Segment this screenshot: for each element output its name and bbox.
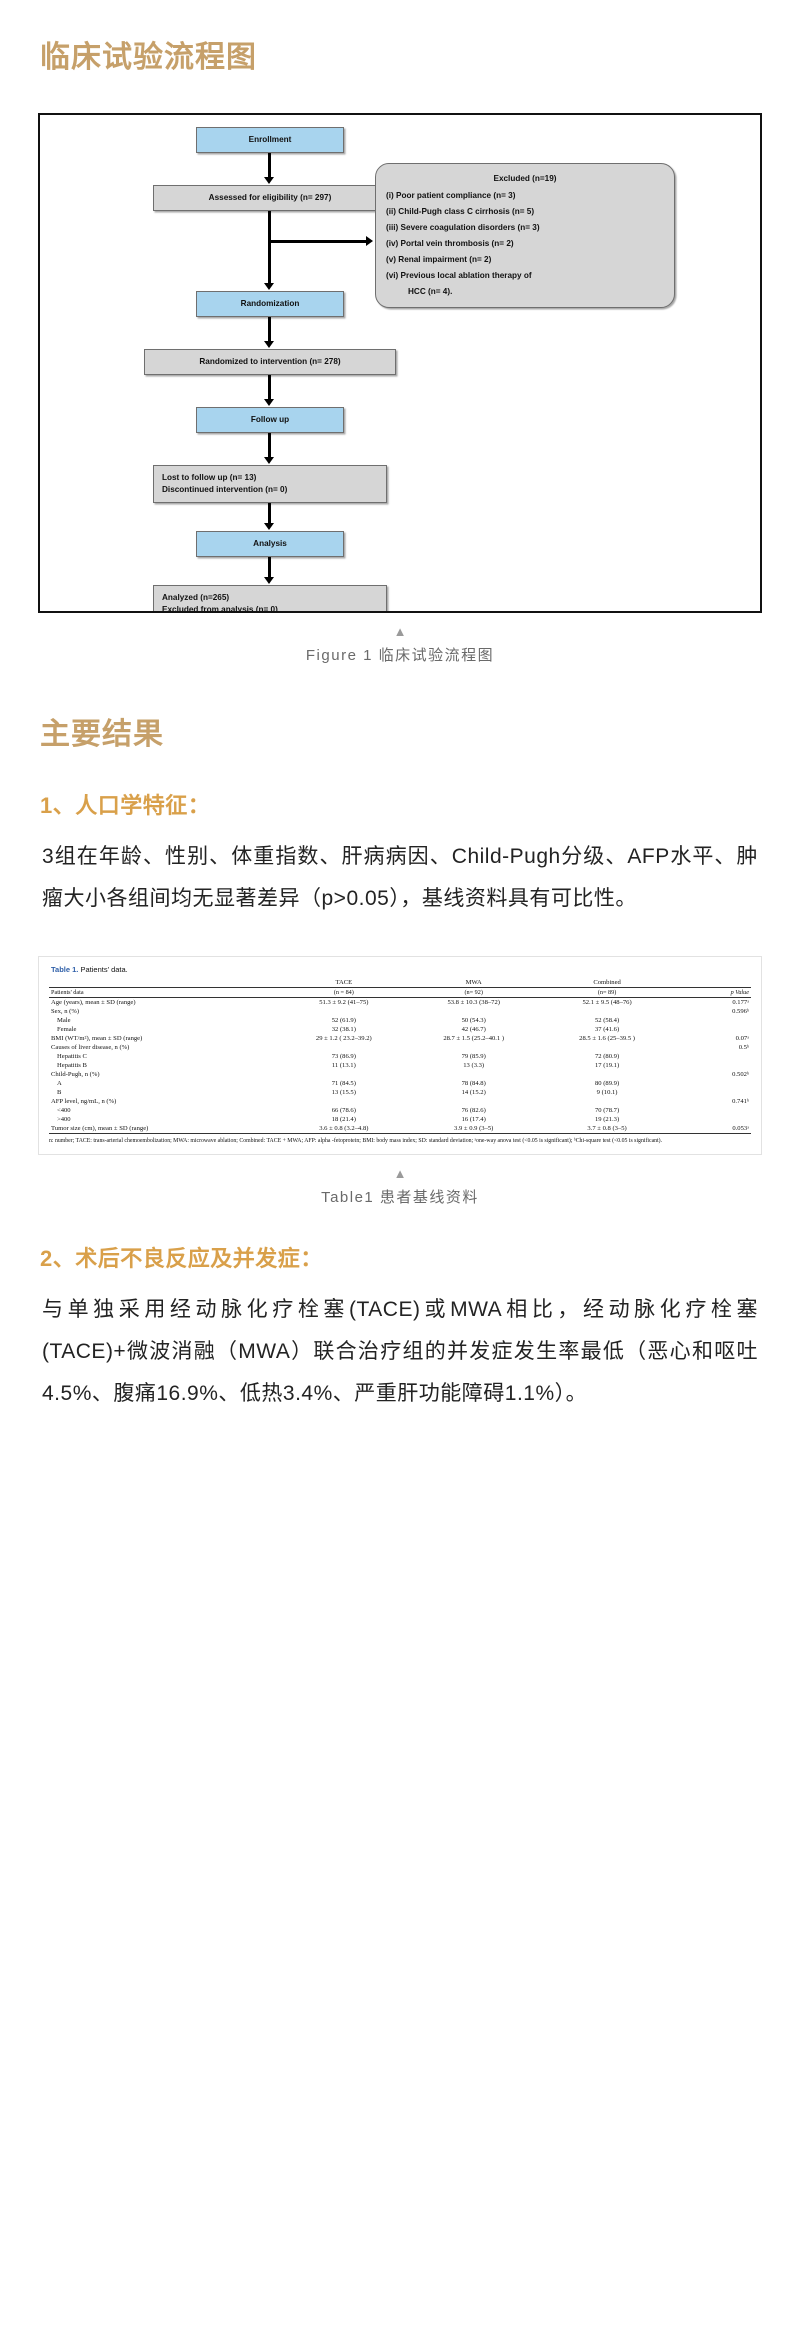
node-follow-up: Follow up xyxy=(196,407,344,433)
cell-mwa xyxy=(407,1097,540,1106)
cell-p-value: 0.177ᵃ xyxy=(674,998,751,1008)
node-lost-discontinued: Lost to follow up (n= 13) Discontinued i… xyxy=(153,465,387,503)
connector-randomization-randomized xyxy=(268,317,271,343)
node-lost-label: Lost to follow up (n= 13) xyxy=(162,472,256,484)
cell-mwa xyxy=(407,1070,540,1079)
connector-randomized-followup xyxy=(268,375,271,401)
cell-mwa: 42 (46.7) xyxy=(407,1025,540,1034)
col-header-patients-data: Patients' data xyxy=(49,988,281,998)
table-footnote: n: number; TACE: trans-arterial chemoemb… xyxy=(49,1137,751,1146)
cell-combined: 19 (21.3) xyxy=(540,1115,673,1124)
node-excluded: Excluded (n=19) (i) Poor patient complia… xyxy=(375,163,675,308)
excluded-item: HCC (n= 4). xyxy=(386,284,664,300)
cell-label: B xyxy=(49,1088,281,1097)
figure-flowchart: Enrollment Assessed for eligibility (n= … xyxy=(38,113,762,665)
cell-p-value xyxy=(674,1052,751,1061)
cell-label: Female xyxy=(49,1025,281,1034)
figure-caption-marker: ▲ xyxy=(38,625,762,638)
table-row: <40066 (78.6)76 (82.6)70 (78.7) xyxy=(49,1106,751,1115)
article-page: 临床试验流程图 Enrollment Assessed for eligibil… xyxy=(0,38,800,2335)
table-row: A71 (84.5)78 (84.8)80 (89.9) xyxy=(49,1079,751,1088)
arrow-down-2 xyxy=(264,283,274,290)
col-header-tace-n: (n = 84) xyxy=(281,988,407,998)
node-followup-label: Follow up xyxy=(251,414,289,426)
arrow-down-7 xyxy=(264,577,274,584)
node-analyzed: Analyzed (n=265) Excluded from analysis … xyxy=(153,585,387,613)
cell-mwa: 28.7 ± 1.5 (25.2–40.1 ) xyxy=(407,1034,540,1043)
cell-tace: 73 (86.9) xyxy=(281,1052,407,1061)
group-header-tace: TACE xyxy=(281,978,407,988)
node-assessed-label: Assessed for eligibility (n= 297) xyxy=(209,192,332,204)
cell-p-value: 0.741ᵇ xyxy=(674,1097,751,1106)
table-caption-marker: ▲ xyxy=(0,1167,800,1180)
table-row: Hepatitis B11 (13.1)13 (3.3)17 (19.1) xyxy=(49,1061,751,1070)
arrow-down-1 xyxy=(264,177,274,184)
connector-enrollment-assessed xyxy=(268,153,271,179)
cell-combined: 52 (58.4) xyxy=(540,1016,673,1025)
cell-combined: 72 (80.9) xyxy=(540,1052,673,1061)
cell-p-value xyxy=(674,1106,751,1115)
cell-tace: 3.6 ± 0.8 (3.2–4.8) xyxy=(281,1124,407,1134)
cell-combined: 28.5 ± 1.6 (25–39.5 ) xyxy=(540,1034,673,1043)
paragraph-demographics: 3组在年龄、性别、体重指数、肝病病因、Child-Pugh分级、AFP水平、肿瘤… xyxy=(42,836,758,920)
cell-combined: 17 (19.1) xyxy=(540,1061,673,1070)
cell-combined: 80 (89.9) xyxy=(540,1079,673,1088)
table-row: Age (years), mean ± SD (range)51.3 ± 9.2… xyxy=(49,998,751,1008)
node-randomized-label: Randomized to intervention (n= 278) xyxy=(199,356,340,368)
table-row: Hepatitis C73 (86.9)79 (85.9)72 (80.9) xyxy=(49,1052,751,1061)
group-header-pvalue-blank xyxy=(674,978,751,988)
node-enrollment-label: Enrollment xyxy=(249,134,292,146)
cell-combined: 3.7 ± 0.8 (3–5) xyxy=(540,1124,673,1134)
group-header-combined: Combined xyxy=(540,978,673,988)
node-excluded-analysis-label: Excluded from analysis (n= 0) xyxy=(162,604,278,613)
cell-mwa: 14 (15.2) xyxy=(407,1088,540,1097)
cell-p-value: 0.5ᵇ xyxy=(674,1043,751,1052)
node-analyzed-label: Analyzed (n=265) xyxy=(162,592,229,604)
cell-combined: 70 (78.7) xyxy=(540,1106,673,1115)
cell-mwa xyxy=(407,1043,540,1052)
arrow-down-5 xyxy=(264,457,274,464)
cell-combined xyxy=(540,1043,673,1052)
cell-label: Hepatitis C xyxy=(49,1052,281,1061)
table-sub-header-row: Patients' data (n = 84) (n= 92) (n= 89) … xyxy=(49,988,751,998)
connector-followup-lost xyxy=(268,433,271,459)
excluded-title: Excluded (n=19) xyxy=(386,171,664,187)
cell-p-value xyxy=(674,1025,751,1034)
excluded-item: (iii) Severe coagulation disorders (n= 3… xyxy=(386,220,664,236)
table-group-header-row: TACE MWA Combined xyxy=(49,978,751,988)
cell-tace: 13 (15.5) xyxy=(281,1088,407,1097)
cell-mwa: 79 (85.9) xyxy=(407,1052,540,1061)
excluded-item: (ii) Child-Pugh class C cirrhosis (n= 5) xyxy=(386,204,664,220)
cell-mwa: 50 (54.3) xyxy=(407,1016,540,1025)
excluded-item: (i) Poor patient compliance (n= 3) xyxy=(386,188,664,204)
section-title-results: 主要结果 xyxy=(40,715,800,754)
cell-combined: 9 (10.1) xyxy=(540,1088,673,1097)
patients-data-table: TACE MWA Combined Patients' data (n = 84… xyxy=(49,978,751,1134)
cell-label: Age (years), mean ± SD (range) xyxy=(49,998,281,1008)
cell-tace: 18 (21.4) xyxy=(281,1115,407,1124)
node-discontinued-label: Discontinued intervention (n= 0) xyxy=(162,484,287,496)
node-enrollment: Enrollment xyxy=(196,127,344,153)
cell-p-value xyxy=(674,1061,751,1070)
cell-tace: 71 (84.5) xyxy=(281,1079,407,1088)
connector-assessed-randomization xyxy=(268,211,271,285)
cell-combined xyxy=(540,1007,673,1016)
cell-label: Male xyxy=(49,1016,281,1025)
subsection-title-adverse: 2、术后不良反应及并发症： xyxy=(40,1241,800,1273)
cell-tace xyxy=(281,1070,407,1079)
cell-p-value xyxy=(674,1115,751,1124)
node-randomized-to-intervention: Randomized to intervention (n= 278) xyxy=(144,349,396,375)
node-randomization: Randomization xyxy=(196,291,344,317)
table-body: Age (years), mean ± SD (range)51.3 ± 9.2… xyxy=(49,998,751,1134)
cell-tace xyxy=(281,1043,407,1052)
cell-label: >400 xyxy=(49,1115,281,1124)
cell-label: Tumor size (cm), mean ± SD (range) xyxy=(49,1124,281,1134)
node-analysis: Analysis xyxy=(196,531,344,557)
cell-label: Child-Pugh, n (%) xyxy=(49,1070,281,1079)
table-row: Sex, n (%)0.596ᵇ xyxy=(49,1007,751,1016)
col-header-mwa-n: (n= 92) xyxy=(407,988,540,998)
connector-lost-analysis xyxy=(268,503,271,525)
cell-label: Causes of liver disease, n (%) xyxy=(49,1043,281,1052)
col-header-combined-n: (n= 89) xyxy=(540,988,673,998)
cell-p-value: 0.053ᵃ xyxy=(674,1124,751,1134)
arrow-right-excluded xyxy=(366,236,373,246)
cell-tace: 52 (61.9) xyxy=(281,1016,407,1025)
table-row: B13 (15.5)14 (15.2)9 (10.1) xyxy=(49,1088,751,1097)
arrow-down-4 xyxy=(264,399,274,406)
flowchart-canvas: Enrollment Assessed for eligibility (n= … xyxy=(38,113,762,613)
table-row: Causes of liver disease, n (%)0.5ᵇ xyxy=(49,1043,751,1052)
table-title: Table 1. Patients' data. xyxy=(51,965,751,974)
cell-tace: 66 (78.6) xyxy=(281,1106,407,1115)
cell-p-value: 0.596ᵇ xyxy=(674,1007,751,1016)
cell-p-value xyxy=(674,1079,751,1088)
cell-tace: 51.3 ± 9.2 (41–75) xyxy=(281,998,407,1008)
subsection-title-demographics: 1、人口学特征： xyxy=(40,788,800,820)
cell-mwa: 78 (84.8) xyxy=(407,1079,540,1088)
cell-tace: 29 ± 1.2 ( 23.2–39.2) xyxy=(281,1034,407,1043)
table-row: Tumor size (cm), mean ± SD (range)3.6 ± … xyxy=(49,1124,751,1134)
cell-label: BMI (WT/m²), mean ± SD (range) xyxy=(49,1034,281,1043)
connector-analysis-analyzed xyxy=(268,557,271,579)
arrow-down-3 xyxy=(264,341,274,348)
paragraph-adverse: 与单独采用经动脉化疗栓塞(TACE)或MWA相比，经动脉化疗栓塞(TACE)+微… xyxy=(42,1289,758,1415)
cell-mwa: 53.8 ± 10.3 (38–72) xyxy=(407,998,540,1008)
cell-label: A xyxy=(49,1079,281,1088)
cell-tace: 11 (13.1) xyxy=(281,1061,407,1070)
group-header-mwa: MWA xyxy=(407,978,540,988)
connector-to-excluded xyxy=(268,240,368,243)
table-row: >40018 (21.4)16 (17.4)19 (21.3) xyxy=(49,1115,751,1124)
table-row: Female32 (38.1)42 (46.7)37 (41.6) xyxy=(49,1025,751,1034)
table-title-text: Patients' data. xyxy=(80,965,127,974)
cell-p-value: 0.07ᵃ xyxy=(674,1034,751,1043)
cell-mwa: 3.9 ± 0.9 (3–5) xyxy=(407,1124,540,1134)
cell-label: Hepatitis B xyxy=(49,1061,281,1070)
cell-mwa xyxy=(407,1007,540,1016)
table-caption: Table1 患者基线资料 xyxy=(0,1186,800,1207)
cell-tace xyxy=(281,1007,407,1016)
cell-combined xyxy=(540,1097,673,1106)
col-header-p-value: p Value xyxy=(674,988,751,998)
cell-p-value xyxy=(674,1016,751,1025)
table-label: Table 1. xyxy=(51,965,78,974)
table-row: AFP level, ng/mL, n (%)0.741ᵇ xyxy=(49,1097,751,1106)
cell-combined: 52.1 ± 9.5 (48–76) xyxy=(540,998,673,1008)
cell-tace: 32 (38.1) xyxy=(281,1025,407,1034)
node-randomization-label: Randomization xyxy=(241,298,300,310)
cell-tace xyxy=(281,1097,407,1106)
cell-p-value: 0.502ᵇ xyxy=(674,1070,751,1079)
table-row: Male52 (61.9)50 (54.3)52 (58.4) xyxy=(49,1016,751,1025)
cell-mwa: 76 (82.6) xyxy=(407,1106,540,1115)
cell-combined: 37 (41.6) xyxy=(540,1025,673,1034)
cell-label: AFP level, ng/mL, n (%) xyxy=(49,1097,281,1106)
arrow-down-6 xyxy=(264,523,274,530)
cell-mwa: 13 (3.3) xyxy=(407,1061,540,1070)
table-head: TACE MWA Combined Patients' data (n = 84… xyxy=(49,978,751,998)
excluded-item: (v) Renal impairment (n= 2) xyxy=(386,252,664,268)
page-title: 临床试验流程图 xyxy=(40,38,800,77)
table-row: BMI (WT/m²), mean ± SD (range)29 ± 1.2 (… xyxy=(49,1034,751,1043)
cell-mwa: 16 (17.4) xyxy=(407,1115,540,1124)
cell-p-value xyxy=(674,1088,751,1097)
figure-caption: Figure 1 临床试验流程图 xyxy=(38,644,762,665)
cell-label: <400 xyxy=(49,1106,281,1115)
table-row: Child-Pugh, n (%)0.502ᵇ xyxy=(49,1070,751,1079)
node-assessed-eligibility: Assessed for eligibility (n= 297) xyxy=(153,185,387,211)
cell-label: Sex, n (%) xyxy=(49,1007,281,1016)
excluded-item: (vi) Previous local ablation therapy of xyxy=(386,268,664,284)
table-patients-data: Table 1. Patients' data. TACE MWA Combin… xyxy=(38,956,762,1155)
group-header-blank xyxy=(49,978,281,988)
excluded-item: (iv) Portal vein thrombosis (n= 2) xyxy=(386,236,664,252)
cell-combined xyxy=(540,1070,673,1079)
node-analysis-label: Analysis xyxy=(253,538,287,550)
